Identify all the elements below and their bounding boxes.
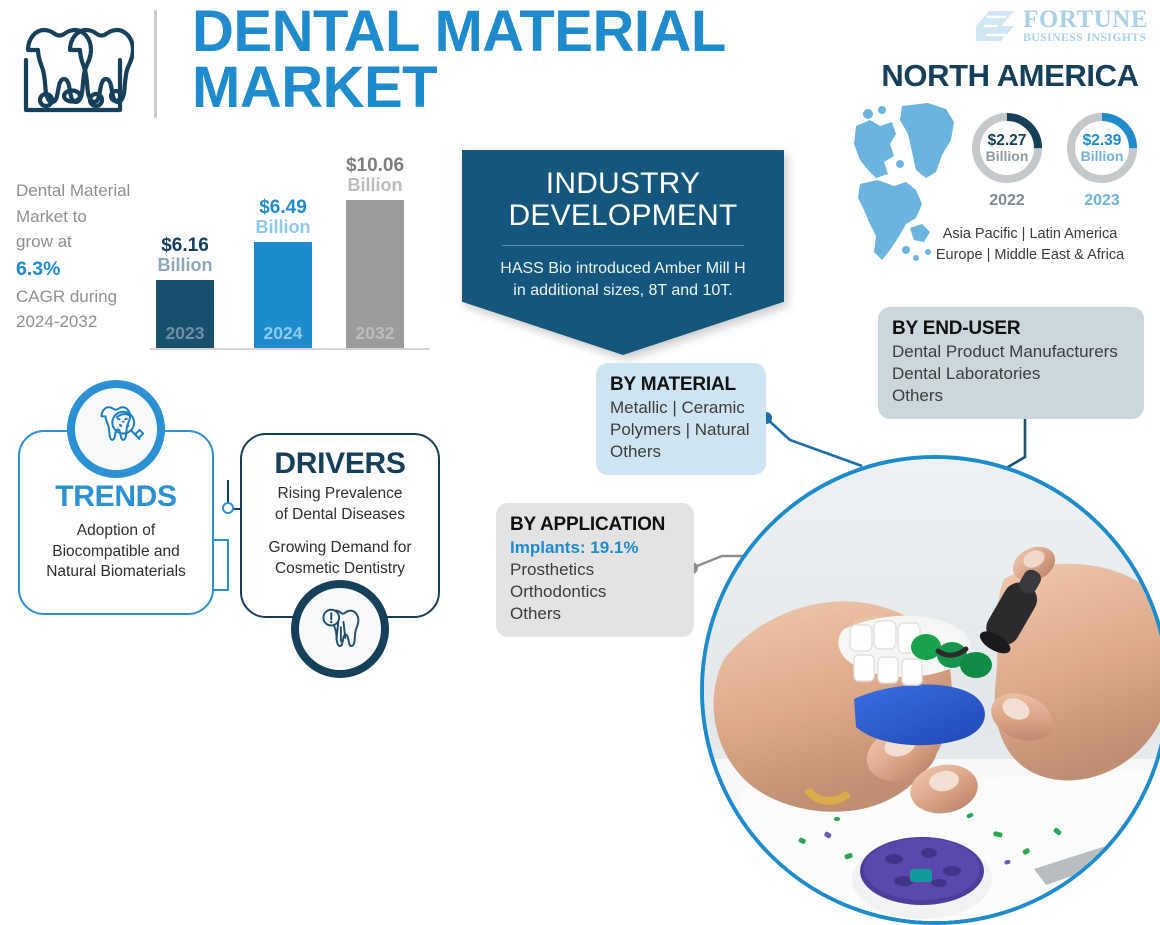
chart-caption-line5: 2024-2032 xyxy=(16,309,166,335)
banner-divider xyxy=(502,245,744,246)
segment-by-material[interactable]: BY MATERIAL Metallic | Ceramic Polymers … xyxy=(596,363,766,475)
segment-material-item-2: Others xyxy=(610,441,752,463)
bar-2023: $6.16 Billion 2023 xyxy=(156,280,214,348)
trends-body-line1: Adoption of xyxy=(77,522,155,539)
chart-baseline xyxy=(150,348,430,350)
banner-heading-line2: DEVELOPMENT xyxy=(484,200,762,232)
banner-body-line1: HASS Bio introduced Amber Mill H xyxy=(484,258,762,280)
segment-end-user-item-2: Others xyxy=(892,385,1130,407)
segment-application-item-0: Prosthetics xyxy=(510,559,680,581)
logo-line1: FORTUNE xyxy=(1023,7,1148,32)
bar-2032-unit: Billion xyxy=(320,176,430,195)
page-title-line1: DENTAL MATERIAL xyxy=(192,4,832,60)
trends-icon-badge xyxy=(67,380,165,478)
donut-2023-year: 2023 xyxy=(1064,192,1140,210)
page-title-line2: MARKET xyxy=(192,60,832,116)
segment-end-user-title: BY END-USER xyxy=(892,318,1130,340)
drivers-icon-badge xyxy=(291,580,389,678)
donut-2023-unit: Billion xyxy=(1081,149,1124,164)
segment-end-user-item-1: Dental Laboratories xyxy=(892,363,1130,385)
segment-by-application[interactable]: BY APPLICATION Implants: 19.1% Prostheti… xyxy=(496,503,694,637)
donut-chart-2022: $2.27 Billion xyxy=(969,110,1045,186)
trends-body-line3: Natural Biomaterials xyxy=(46,563,186,580)
bar-2024-year: 2024 xyxy=(254,323,312,344)
bar-2023-year: 2023 xyxy=(156,323,214,344)
bar-2032: $10.06 Billion 2032 xyxy=(346,200,404,348)
bar-2023-value: $6.16 xyxy=(130,236,240,256)
drivers-body-1: Rising Prevalence of Dental Diseases xyxy=(242,484,438,525)
region-list-line2: Europe | Middle East & Africa xyxy=(902,245,1158,266)
bar-2023-label: $6.16 Billion xyxy=(130,236,240,280)
donut-chart-2023: $2.39 Billion xyxy=(1064,110,1140,186)
fortune-business-insights-logo: FORTUNE BUSINESS INSIGHTS xyxy=(974,6,1148,46)
chart-caption-line1: Dental Material xyxy=(16,178,166,204)
tooth-magnifier-icon xyxy=(75,388,157,470)
logo-wordmark: FORTUNE BUSINESS INSIGHTS xyxy=(1023,7,1148,45)
banner-content: INDUSTRY DEVELOPMENT HASS Bio introduced… xyxy=(462,150,784,302)
segment-application-item-2: Others xyxy=(510,603,680,625)
bar-2024-unit: Billion xyxy=(228,218,338,237)
segment-application-highlight: Implants: 19.1% xyxy=(510,537,680,559)
drivers-body-line1: Rising Prevalence xyxy=(278,485,403,502)
page-title: DENTAL MATERIAL MARKET xyxy=(192,4,832,117)
donut-2022-label: $2.27 Billion xyxy=(969,110,1045,186)
logo-line2: BUSINESS INSIGHTS xyxy=(1023,33,1148,45)
donut-2023-label: $2.39 Billion xyxy=(1064,110,1140,186)
dental-lab-photo xyxy=(700,455,1160,925)
teeth-gum-icon xyxy=(12,16,134,120)
segment-application-title: BY APPLICATION xyxy=(510,514,680,536)
header-divider xyxy=(154,10,157,118)
bar-2032-value: $10.06 xyxy=(320,156,430,176)
market-size-bar-chart: $6.16 Billion 2023 $6.49 Billion 2024 $1… xyxy=(150,150,430,350)
trends-body: Adoption of Biocompatible and Natural Bi… xyxy=(20,521,212,583)
bar-2032-label: $10.06 Billion xyxy=(320,156,430,200)
bar-2024-value: $6.49 xyxy=(228,198,338,218)
region-title: NORTH AMERICA xyxy=(862,58,1158,94)
fb-monogram-icon xyxy=(974,9,1016,43)
industry-development-banner: INDUSTRY DEVELOPMENT HASS Bio introduced… xyxy=(462,150,784,355)
segment-by-end-user[interactable]: BY END-USER Dental Product Manufacturers… xyxy=(878,307,1144,419)
donut-2022-year: 2022 xyxy=(969,192,1045,210)
donut-2022-unit: Billion xyxy=(986,149,1029,164)
trends-title: TRENDS xyxy=(20,480,212,514)
donut-2023-value: $2.39 xyxy=(1083,133,1122,149)
drivers-body-line3: Growing Demand for xyxy=(268,539,411,556)
bar-2023-unit: Billion xyxy=(130,256,240,275)
trends-body-line2: Biocompatible and xyxy=(52,543,180,560)
segment-application-item-1: Orthodontics xyxy=(510,581,680,603)
chart-caption-line2: Market to xyxy=(16,204,166,230)
bar-2024: $6.49 Billion 2024 xyxy=(254,242,312,348)
infographic-canvas: DENTAL MATERIAL MARKET FORTUNE BUSINESS … xyxy=(0,0,1160,700)
region-list-line1: Asia Pacific | Latin America xyxy=(902,224,1158,245)
drivers-title: DRIVERS xyxy=(242,447,438,481)
banner-body-line2: in additional sizes, 8T and 10T. xyxy=(484,280,762,302)
donut-2022-value: $2.27 xyxy=(988,133,1027,149)
segment-material-title: BY MATERIAL xyxy=(610,374,752,396)
drivers-body-2: Growing Demand for Cosmetic Dentistry xyxy=(242,538,438,579)
drivers-body-line4: Cosmetic Dentistry xyxy=(275,560,405,577)
banner-heading-line1: INDUSTRY xyxy=(484,168,762,200)
region-list: Asia Pacific | Latin America Europe | Mi… xyxy=(902,224,1158,266)
segment-material-item-0: Metallic | Ceramic xyxy=(610,397,752,419)
segment-end-user-item-0: Dental Product Manufacturers xyxy=(892,341,1130,363)
tooth-alert-icon xyxy=(299,588,381,670)
bar-2032-year: 2032 xyxy=(346,323,404,344)
bar-2024-label: $6.49 Billion xyxy=(228,198,338,242)
drivers-body-line2: of Dental Diseases xyxy=(275,506,405,523)
segment-material-item-1: Polymers | Natural xyxy=(610,419,752,441)
chart-caption-line4: CAGR during xyxy=(16,284,166,310)
